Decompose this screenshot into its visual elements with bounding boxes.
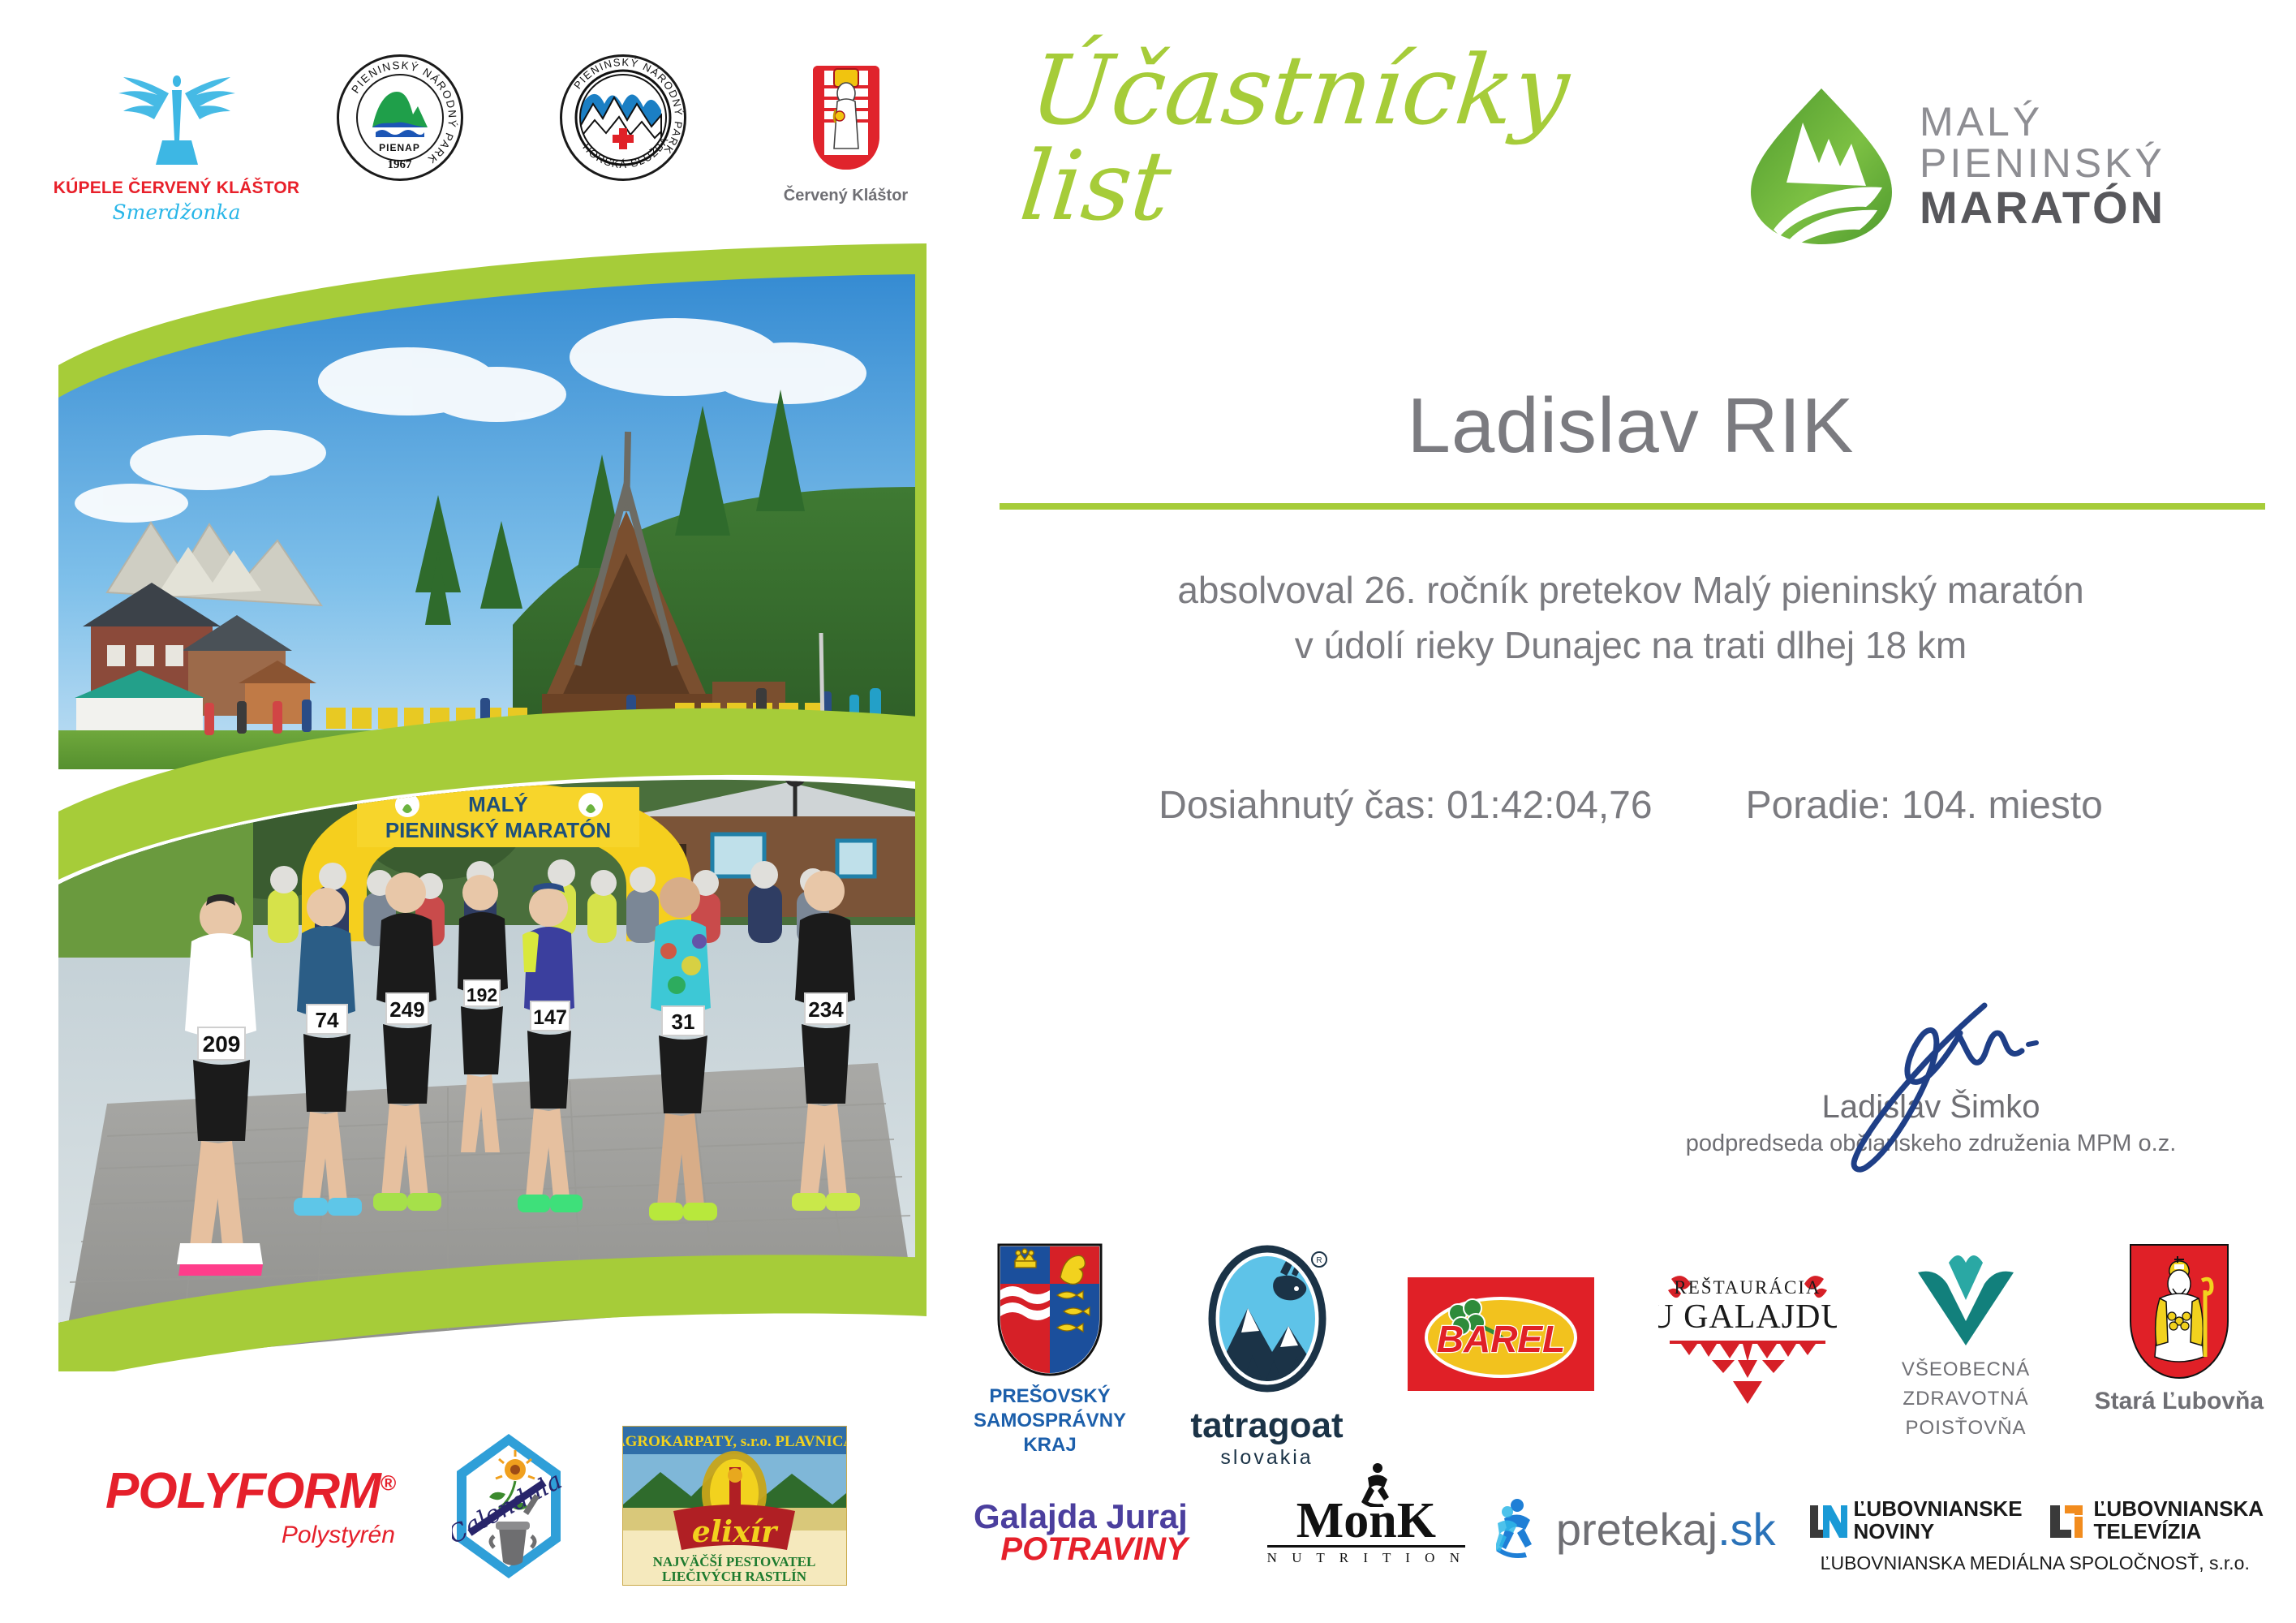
sponsor-line-2: POTRAVINY <box>974 1531 1188 1568</box>
folk-ornament-icon: REŠTAURÁCIA U GALAJDU <box>1658 1266 1837 1409</box>
svg-text:31: 31 <box>672 1010 695 1034</box>
sponsor-pretekaj-sk: pretekaj.sk <box>1496 1497 1776 1561</box>
partner-subtitle: Smerdžonka <box>54 201 300 225</box>
certificate-line-1: absolvoval 26. ročník pretekov Malý pien… <box>998 568 2264 612</box>
pienap-year: 1967 <box>388 158 412 172</box>
runner-icon <box>1496 1497 1545 1561</box>
sponsor-vszp: VŠEOBECNÁ ZDRAVOTNÁ POISŤOVŇA <box>1902 1250 2030 1443</box>
sponsor-tagline: Polystyrén <box>105 1522 395 1549</box>
sponsor-line-2: ZDRAVOTNÁ <box>1902 1384 2030 1414</box>
partner-horska-sluzba: PIENINSKÝ NÁRODNÝ PARK HORSKÁ SLUŽBA <box>535 57 710 179</box>
logo-line-2: PIENINSKÝ <box>1920 143 2165 184</box>
park-seal-icon: PIENINSKÝ NÁRODNÝ PARK PIENAP 1 <box>337 57 463 179</box>
sponsor-stara-lubovna: Stará Ľubovňa <box>2095 1242 2264 1415</box>
sponsor-line-3: KRAJ <box>974 1433 1126 1457</box>
svg-text:209: 209 <box>203 1031 241 1057</box>
chamois-mountain-icon: R <box>1202 1242 1332 1404</box>
sponsors-bottom-left: POLYFORM® Polystyrén Calen <box>105 1412 965 1599</box>
sponsor-u-galajdu: REŠTAURÁCIA U GALAJDU <box>1658 1266 1837 1409</box>
sponsor-name: pretekaj <box>1556 1504 1718 1555</box>
sponsor-name: tatragoat <box>1190 1406 1343 1446</box>
sponsor-line-1: VŠEOBECNÁ <box>1902 1355 2030 1384</box>
town-crest-icon <box>2127 1242 2231 1381</box>
sponsor-name: Stará Ľubovňa <box>2095 1388 2264 1415</box>
svg-text:AGROKARPATY, s.r.o. PLAVNICA: AGROKARPATY, s.r.o. PLAVNICA <box>623 1433 846 1450</box>
sponsor-line-3: POISŤOVŇA <box>1902 1414 2030 1443</box>
sponsor-name: POLYFORM <box>105 1463 381 1519</box>
region-crest-icon <box>994 1242 1106 1378</box>
lt-logo-icon <box>2047 1502 2087 1538</box>
media-line-2: NOVINY <box>1854 1520 2023 1543</box>
vzp-chevron-icon <box>1913 1250 2019 1347</box>
event-logo-text: MALÝ PIENINSKÝ MARATÓN <box>1920 101 2165 230</box>
lubovnianska-televizia: ĽUBOVNIANSKA TELEVÍZIA <box>2047 1497 2264 1543</box>
sponsor-agrokarpaty: AGROKARPATY, s.r.o. PLAVNICA elixír NAJV… <box>622 1426 847 1586</box>
sponsor-tatragoat: R tatragoat slovakia <box>1190 1242 1343 1470</box>
sponsor-tagline: slovakia <box>1220 1446 1313 1470</box>
page-title: Účastnícky list <box>1020 73 1707 203</box>
svg-text:PIENINSKÝ MARATÓN: PIENINSKÝ MARATÓN <box>385 818 611 842</box>
logo-line-3: MARATÓN <box>1920 184 2165 230</box>
media-line-1: ĽUBOVNIANSKE <box>1854 1497 2023 1520</box>
angel-water-icon <box>104 57 250 179</box>
lubovnianske-noviny: ĽUBOVNIANSKE NOVINY <box>1807 1497 2023 1543</box>
media-line-3: ĽUBOVNIANSKA <box>2094 1497 2264 1520</box>
sponsor-line-1: PREŠOVSKÝ <box>974 1384 1126 1409</box>
media-line-4: TELEVÍZIA <box>2094 1520 2264 1543</box>
signature-block: Ladislav Šimko podpredseda občianskeho z… <box>1623 986 2239 1157</box>
certificate-page: KÚPELE ČERVENÝ KLÁŠTOR Smerdžonka PIENIN… <box>0 0 2296 1623</box>
svg-text:234: 234 <box>808 997 844 1022</box>
mountain-rescue-seal-icon: PIENINSKÝ NÁRODNÝ PARK HORSKÁ SLUŽBA <box>560 57 686 179</box>
sponsor-line-1: Galajda Juraj <box>974 1497 1188 1536</box>
svg-text:249: 249 <box>389 997 424 1022</box>
svg-text:MALÝ: MALÝ <box>468 792 528 816</box>
svg-text:192: 192 <box>467 984 497 1005</box>
svg-text:147: 147 <box>533 1006 567 1029</box>
media-company-name: ĽUBOVNIANSKA MEDIÁLNA SPOLOČNOSŤ, s.r.o. <box>1821 1552 2250 1574</box>
event-logo: MALÝ PIENINSKÝ MARATÓN <box>1744 77 2264 256</box>
municipal-crest-icon <box>813 57 879 179</box>
mountain-leaf-icon <box>1744 85 1898 248</box>
sponsor-tld: .sk <box>1718 1504 1776 1555</box>
svg-text:REŠTAURÁCIA: REŠTAURÁCIA <box>1675 1276 1821 1298</box>
svg-text:U GALAJDU: U GALAJDU <box>1658 1298 1837 1336</box>
ln-logo-icon <box>1807 1502 1847 1538</box>
sponsors-right-row-1: PREŠOVSKÝ SAMOSPRÁVNY KRAJ <box>974 1242 2264 1477</box>
sponsor-name: MonK <box>1296 1497 1436 1545</box>
logo-line-1: MALÝ <box>1920 101 2165 143</box>
photo-collage: MALÝ PIENINSKÝ MARATÓN <box>58 243 927 1371</box>
finish-time: Dosiahnutý čas: 01:42:04,76 <box>1159 783 1652 828</box>
sponsor-monk-nutrition: MonK N U T R I T I O N <box>1267 1497 1465 1566</box>
partner-name: Červený Kláštor <box>784 187 908 205</box>
registered-mark: ® <box>381 1470 395 1495</box>
svg-text:BAREL: BAREL <box>1437 1318 1565 1360</box>
clover-oval-icon: BAREL <box>1408 1277 1594 1391</box>
svg-text:74: 74 <box>316 1008 339 1032</box>
agro-tag-2: LIEČIVÝCH RASTLÍN <box>662 1569 807 1584</box>
certificate-line-2: v údolí rieky Dunajec na trati dlhej 18 … <box>998 623 2264 667</box>
sponsor-presovsky-kraj: PREŠOVSKÝ SAMOSPRÁVNY KRAJ <box>974 1242 1126 1457</box>
sponsor-lubovnianska-medialna: ĽUBOVNIANSKE NOVINY ĽUBOVNIANSKA TELEVÍZ… <box>1807 1497 2264 1574</box>
title-divider <box>1000 503 2265 510</box>
sponsor-calendula: Calendula <box>452 1431 565 1581</box>
partner-name: KÚPELE ČERVENÝ KLÁŠTOR <box>54 179 300 198</box>
svg-text:elixír: elixír <box>692 1515 779 1549</box>
results-row: Dosiahnutý čas: 01:42:04,76 Poradie: 104… <box>998 783 2264 828</box>
sponsor-galajda-juraj: Galajda Juraj POTRAVINY <box>974 1497 1188 1568</box>
sponsor-barel: BAREL <box>1408 1277 1594 1391</box>
calendula-mortar-icon: Calendula <box>452 1431 565 1581</box>
svg-text:PIENINSKÝ NÁRODNÝ PARK: PIENINSKÝ NÁRODNÝ PARK <box>349 59 458 166</box>
agro-tag-1: NAJVÄČŠÍ PESTOVATEL <box>653 1554 816 1569</box>
partner-kupele-cerveny-klastor: KÚPELE ČERVENÝ KLÁŠTOR Smerdžonka <box>89 57 264 225</box>
placement: Poradie: 104. miesto <box>1746 783 2103 828</box>
sponsor-polyform: POLYFORM® Polystyrén <box>105 1462 395 1549</box>
partner-pienap: PIENINSKÝ NÁRODNÝ PARK PIENAP 1 <box>312 57 487 179</box>
partner-cerveny-klastor: Červený Kláštor <box>759 57 933 205</box>
handwritten-signature-icon <box>1623 986 2239 1096</box>
sponsor-line-2: SAMOSPRÁVNY <box>974 1409 1126 1433</box>
sponsors-right-row-2: Galajda Juraj POTRAVINY MonK N U T R I T… <box>974 1497 2264 1611</box>
svg-text:R: R <box>1316 1256 1322 1265</box>
top-partner-logos: KÚPELE ČERVENÝ KLÁŠTOR Smerdžonka PIENIN… <box>89 57 949 243</box>
participant-name: Ladislav RIK <box>998 381 2264 471</box>
